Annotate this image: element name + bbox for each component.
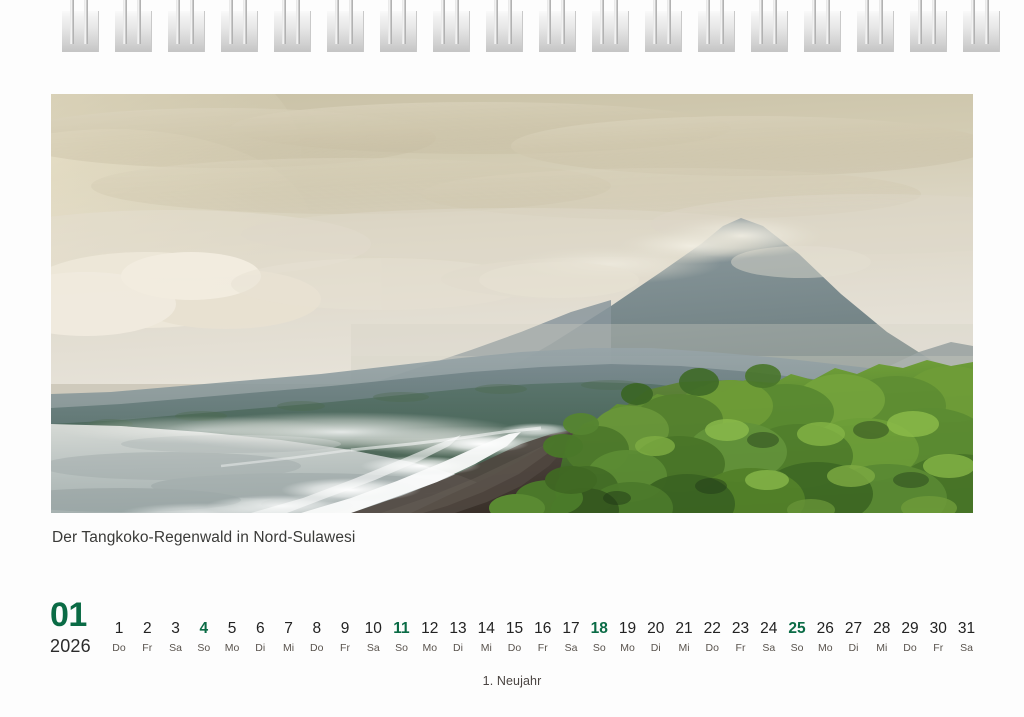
binding-wire xyxy=(879,0,883,44)
binding-wire xyxy=(335,0,339,44)
day-weekday-label: Di xyxy=(246,641,274,655)
binding-ring-block xyxy=(592,11,629,52)
day-cell[interactable]: 12Mo xyxy=(416,620,444,655)
day-weekday-label: Di xyxy=(642,641,670,655)
binding-wire xyxy=(494,0,498,44)
day-number: 19 xyxy=(614,620,642,638)
binding-ring xyxy=(537,0,577,52)
day-number: 12 xyxy=(416,620,444,638)
binding-wire xyxy=(826,0,830,44)
binding-ring-block xyxy=(857,11,894,52)
day-number: 21 xyxy=(670,620,698,638)
day-cell[interactable]: 7Mi xyxy=(275,620,303,655)
binding-wire xyxy=(441,0,445,44)
binding-wire xyxy=(176,0,180,44)
binding-wire xyxy=(971,0,975,44)
binding-wire xyxy=(932,0,936,44)
day-cell[interactable]: 9Fr xyxy=(331,620,359,655)
day-number: 31 xyxy=(953,620,981,638)
day-number: 15 xyxy=(501,620,529,638)
day-weekday-label: Mi xyxy=(670,641,698,655)
day-number: 2 xyxy=(133,620,161,638)
day-weekday-label: Mi xyxy=(868,641,896,655)
day-number: 3 xyxy=(162,620,190,638)
day-number: 28 xyxy=(868,620,896,638)
day-cell-sunday[interactable]: 18So xyxy=(585,620,613,655)
binding-ring-block xyxy=(62,11,99,52)
day-cell[interactable]: 27Di xyxy=(840,620,868,655)
binding-wire xyxy=(190,0,194,44)
day-number: 4 xyxy=(190,620,218,638)
day-weekday-label: Do xyxy=(698,641,726,655)
holiday-row: 1. Neujahr xyxy=(0,672,1024,690)
binding-ring xyxy=(219,0,259,52)
binding-wire xyxy=(70,0,74,44)
day-number: 17 xyxy=(557,620,585,638)
binding-wire xyxy=(865,0,869,44)
day-cell[interactable]: 31Sa xyxy=(953,620,981,655)
day-weekday-label: Do xyxy=(105,641,133,655)
day-cell[interactable]: 26Mo xyxy=(811,620,839,655)
binding-wire xyxy=(614,0,618,44)
binding-wire xyxy=(282,0,286,44)
binding-wire xyxy=(229,0,233,44)
binding-ring xyxy=(590,0,630,52)
binding-ring-block xyxy=(910,11,947,52)
day-cell[interactable]: 10Sa xyxy=(359,620,387,655)
binding-ring xyxy=(378,0,418,52)
photo-frame xyxy=(51,94,973,513)
binding-wire xyxy=(547,0,551,44)
day-number: 1 xyxy=(105,620,133,638)
calendar-photo xyxy=(51,94,973,513)
binding-wire xyxy=(402,0,406,44)
binding-ring-block xyxy=(221,11,258,52)
day-weekday-label: Fr xyxy=(133,641,161,655)
day-weekday-label: Do xyxy=(501,641,529,655)
day-weekday-label: Mo xyxy=(218,641,246,655)
day-cell[interactable]: 2Fr xyxy=(133,620,161,655)
day-weekday-label: Do xyxy=(303,641,331,655)
binding-ring-block xyxy=(963,11,1000,52)
binding-ring xyxy=(113,0,153,52)
day-cell[interactable]: 24Sa xyxy=(755,620,783,655)
binding-wire xyxy=(84,0,88,44)
binding-ring-block xyxy=(751,11,788,52)
binding-ring xyxy=(696,0,736,52)
binding-wire xyxy=(508,0,512,44)
day-weekday-label: Sa xyxy=(162,641,190,655)
day-cell[interactable]: 28Mi xyxy=(868,620,896,655)
binding-ring-block xyxy=(804,11,841,52)
day-weekday-label: Mo xyxy=(416,641,444,655)
binding-wire xyxy=(720,0,724,44)
day-weekday-label: Fr xyxy=(529,641,557,655)
day-number: 24 xyxy=(755,620,783,638)
binding-ring-block xyxy=(115,11,152,52)
holiday-note: 1. Neujahr xyxy=(483,674,542,688)
binding-wire xyxy=(296,0,300,44)
binding-wire xyxy=(243,0,247,44)
day-weekday-label: Mo xyxy=(811,641,839,655)
binding-wire xyxy=(600,0,604,44)
day-number: 20 xyxy=(642,620,670,638)
binding-wire xyxy=(561,0,565,44)
spiral-binding xyxy=(0,0,1024,60)
day-weekday-label: Mi xyxy=(275,641,303,655)
day-strip: 1Do2Fr3Sa4So5Mo6Di7Mi8Do9Fr10Sa11So12Mo1… xyxy=(106,620,984,664)
binding-ring xyxy=(60,0,100,52)
day-number: 26 xyxy=(811,620,839,638)
binding-ring xyxy=(431,0,471,52)
day-weekday-label: Fr xyxy=(331,641,359,655)
day-weekday-label: Fr xyxy=(924,641,952,655)
day-number: 29 xyxy=(896,620,924,638)
binding-ring xyxy=(643,0,683,52)
day-cell[interactable]: 6Di xyxy=(246,620,274,655)
day-weekday-label: Do xyxy=(896,641,924,655)
day-cell[interactable]: 16Fr xyxy=(529,620,557,655)
day-weekday-label: Di xyxy=(444,641,472,655)
day-weekday-label: So xyxy=(783,641,811,655)
photo-caption: Der Tangkoko-Regenwald in Nord-Sulawesi xyxy=(52,529,355,547)
binding-ring-block xyxy=(433,11,470,52)
day-cell[interactable]: 19Mo xyxy=(614,620,642,655)
day-weekday-label: Fr xyxy=(727,641,755,655)
binding-wire xyxy=(455,0,459,44)
day-number: 27 xyxy=(840,620,868,638)
day-cell[interactable]: 14Mi xyxy=(472,620,500,655)
binding-wire xyxy=(706,0,710,44)
day-weekday-label: So xyxy=(388,641,416,655)
day-number: 9 xyxy=(331,620,359,638)
day-cell[interactable]: 8Do xyxy=(303,620,331,655)
binding-wire xyxy=(349,0,353,44)
day-number: 8 xyxy=(303,620,331,638)
day-cell[interactable]: 3Sa xyxy=(162,620,190,655)
binding-ring xyxy=(855,0,895,52)
binding-ring-block xyxy=(168,11,205,52)
day-number: 16 xyxy=(529,620,557,638)
day-cell-sunday[interactable]: 11So xyxy=(388,620,416,655)
day-cell[interactable]: 15Do xyxy=(501,620,529,655)
binding-wire xyxy=(759,0,763,44)
binding-ring-block xyxy=(645,11,682,52)
day-number: 14 xyxy=(472,620,500,638)
day-cell-sunday[interactable]: 4So xyxy=(190,620,218,655)
day-weekday-label: Mo xyxy=(614,641,642,655)
day-number: 10 xyxy=(359,620,387,638)
day-number: 13 xyxy=(444,620,472,638)
day-cell[interactable]: 23Fr xyxy=(727,620,755,655)
day-cell[interactable]: 30Fr xyxy=(924,620,952,655)
binding-ring xyxy=(166,0,206,52)
binding-wire xyxy=(812,0,816,44)
binding-ring-block xyxy=(380,11,417,52)
binding-ring-block xyxy=(486,11,523,52)
day-cell[interactable]: 22Do xyxy=(698,620,726,655)
day-number: 6 xyxy=(246,620,274,638)
binding-ring-block xyxy=(327,11,364,52)
binding-ring xyxy=(749,0,789,52)
binding-ring xyxy=(961,0,1001,52)
day-number: 7 xyxy=(275,620,303,638)
day-cell[interactable]: 1Do xyxy=(105,620,133,655)
day-weekday-label: Sa xyxy=(557,641,585,655)
day-weekday-label: So xyxy=(190,641,218,655)
binding-ring-block xyxy=(698,11,735,52)
binding-wire xyxy=(918,0,922,44)
day-cell[interactable]: 29Do xyxy=(896,620,924,655)
binding-wire xyxy=(123,0,127,44)
binding-wire xyxy=(653,0,657,44)
binding-ring-block xyxy=(274,11,311,52)
calendar-page: Der Tangkoko-Regenwald in Nord-Sulawesi … xyxy=(0,0,1024,717)
day-weekday-label: Sa xyxy=(953,641,981,655)
binding-wire xyxy=(137,0,141,44)
day-number: 25 xyxy=(783,620,811,638)
day-cell[interactable]: 20Di xyxy=(642,620,670,655)
binding-ring xyxy=(908,0,948,52)
binding-ring xyxy=(272,0,312,52)
day-number: 18 xyxy=(585,620,613,638)
day-weekday-label: So xyxy=(585,641,613,655)
day-cell[interactable]: 13Di xyxy=(444,620,472,655)
day-number: 22 xyxy=(698,620,726,638)
binding-ring xyxy=(325,0,365,52)
day-weekday-label: Sa xyxy=(359,641,387,655)
day-number: 5 xyxy=(218,620,246,638)
day-cell-sunday[interactable]: 25So xyxy=(783,620,811,655)
binding-ring xyxy=(484,0,524,52)
day-number: 11 xyxy=(388,620,416,638)
day-number: 23 xyxy=(727,620,755,638)
day-cell[interactable]: 21Mi xyxy=(670,620,698,655)
day-number: 30 xyxy=(924,620,952,638)
binding-wire xyxy=(388,0,392,44)
day-cell[interactable]: 5Mo xyxy=(218,620,246,655)
day-weekday-label: Di xyxy=(840,641,868,655)
binding-wire xyxy=(773,0,777,44)
binding-ring xyxy=(802,0,842,52)
binding-wire xyxy=(985,0,989,44)
day-weekday-label: Sa xyxy=(755,641,783,655)
binding-wire xyxy=(667,0,671,44)
day-weekday-label: Mi xyxy=(472,641,500,655)
binding-ring-block xyxy=(539,11,576,52)
day-cell[interactable]: 17Sa xyxy=(557,620,585,655)
